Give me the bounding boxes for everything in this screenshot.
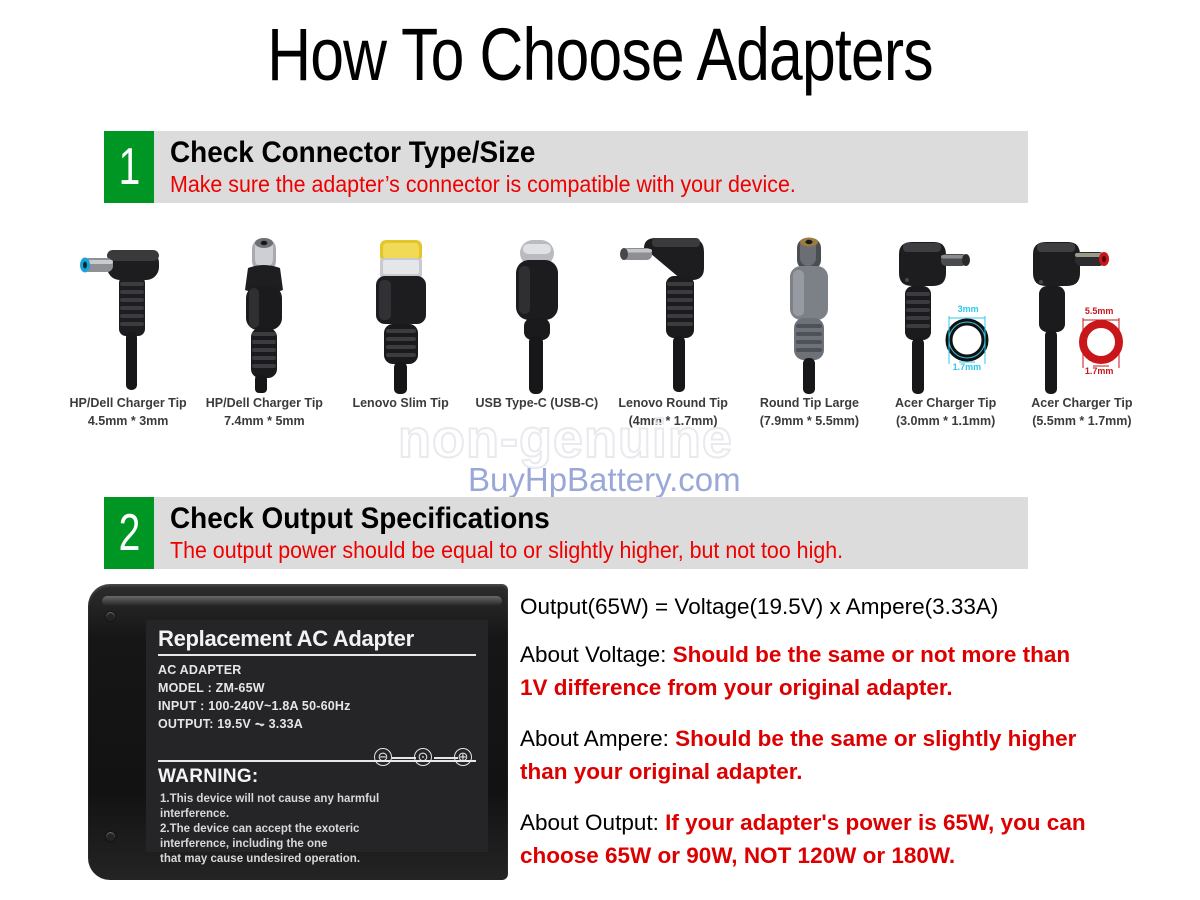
connector-size: (5.5mm * 1.7mm) xyxy=(1031,412,1132,430)
label-divider-top xyxy=(158,654,476,656)
connector-label-group: Round Tip Large (7.9mm * 5.5mm) xyxy=(760,394,859,430)
about-voltage-label: About Voltage: xyxy=(520,642,673,667)
step-2-number-badge: 2 xyxy=(104,497,154,569)
adapter-label-output: OUTPUT: 19.5V ⏦ 3.33A xyxy=(158,716,303,733)
step-1-title: Check Connector Type/Size xyxy=(170,136,968,169)
about-output-text: About Output: If your adapter's power is… xyxy=(520,806,1086,872)
adapter-label-input: INPUT : 100-240V~1.8A 50-60Hz xyxy=(158,698,351,715)
step-1-text-group: Check Connector Type/Size Make sure the … xyxy=(154,131,1028,203)
adapter-label-type: AC ADAPTER xyxy=(158,662,241,679)
connector-name: HP/Dell Charger Tip xyxy=(70,394,187,412)
hp-dell-right-angle-blue-tip-icon xyxy=(63,232,193,394)
connector-name: HP/Dell Charger Tip xyxy=(206,394,323,412)
connector-name: Lenovo Slim Tip xyxy=(352,394,448,412)
connector-item-usb-c[interactable]: USB Type-C (USB-C) xyxy=(469,232,605,442)
connector-name: Acer Charger Tip xyxy=(1031,394,1132,412)
connector-gallery: HP/Dell Charger Tip 4.5mm * 3mm xyxy=(60,232,1150,442)
polarity-diagram-icon: ⊖ ⊙ ⊕ xyxy=(374,748,474,768)
how-to-choose-adapters-infographic: How To Choose Adapters 1 Check Connector… xyxy=(0,0,1200,900)
ac-adapter-photo: Replacement AC Adapter AC ADAPTER MODEL … xyxy=(88,578,508,890)
step-1-number: 1 xyxy=(118,141,140,193)
step-1-number-badge: 1 xyxy=(104,131,154,203)
connector-size: 4.5mm * 3mm xyxy=(70,412,187,430)
adapter-top-highlight xyxy=(102,596,502,606)
adapter-label-model: MODEL : ZM-65W xyxy=(158,680,265,697)
warning-line-2: interference. xyxy=(160,807,229,822)
connector-item-lenovo-slim[interactable]: Lenovo Slim Tip xyxy=(333,232,469,442)
step-1-subtitle: Make sure the adapter’s connector is com… xyxy=(170,171,968,198)
warning-line-5: that may cause undesired operation. xyxy=(160,852,360,867)
polarity-line-left xyxy=(392,757,416,759)
lenovo-slim-rectangular-tip-icon xyxy=(336,232,466,394)
round-tip-large-icon xyxy=(744,232,874,394)
connector-size: 7.4mm * 5mm xyxy=(206,412,323,430)
lenovo-round-tip-icon xyxy=(608,232,738,394)
connector-name: USB Type-C (USB-C) xyxy=(476,394,599,412)
watermark-site-url: BuyHpBattery.com xyxy=(468,462,741,498)
acer-5.5mm-inner-dimension: 1.7mm xyxy=(1085,366,1114,376)
connector-label-group: USB Type-C (USB-C) xyxy=(476,394,599,412)
about-output-label: About Output: xyxy=(520,810,665,835)
about-ampere-text: About Ampere: Should be the same or slig… xyxy=(520,722,1086,788)
connector-label-group: HP/Dell Charger Tip 7.4mm * 5mm xyxy=(206,394,323,430)
step-2-number: 2 xyxy=(118,507,140,559)
connector-size: (4mm * 1.7mm) xyxy=(618,412,727,430)
connector-item-hp-dell-4.5mm[interactable]: HP/Dell Charger Tip 4.5mm * 3mm xyxy=(60,232,196,442)
acer-charger-tip-3mm-icon: 3mm 1.7mm xyxy=(881,232,1011,394)
connector-label-group: Acer Charger Tip (5.5mm * 1.7mm) xyxy=(1031,394,1132,430)
connector-name: Lenovo Round Tip xyxy=(618,394,727,412)
adapter-warning-title: WARNING: xyxy=(158,766,259,788)
connector-size: (7.9mm * 5.5mm) xyxy=(760,412,859,430)
polarity-plus-icon: ⊕ xyxy=(454,748,472,766)
adapter-screw-top-left xyxy=(106,612,115,621)
connector-label-group: Lenovo Slim Tip xyxy=(352,394,448,412)
adapter-label-brand-title: Replacement AC Adapter xyxy=(158,626,414,652)
page-title: How To Choose Adapters xyxy=(108,14,1092,96)
connector-item-acer-3.0mm[interactable]: 3mm 1.7mm Acer Charger Tip (3.0mm * 1.1m… xyxy=(878,232,1014,442)
step-2-subtitle: The output power should be equal to or s… xyxy=(170,537,968,564)
warning-line-4: interference, including the one xyxy=(160,837,327,852)
connector-name: Acer Charger Tip xyxy=(895,394,996,412)
polarity-minus-icon: ⊖ xyxy=(374,748,392,766)
connector-size: (3.0mm * 1.1mm) xyxy=(895,412,996,430)
connector-item-hp-dell-7.4mm[interactable]: HP/Dell Charger Tip 7.4mm * 5mm xyxy=(196,232,332,442)
warning-line-1: 1.This device will not cause any harmful xyxy=(160,792,379,807)
acer-3mm-inner-dimension: 1.7mm xyxy=(953,362,982,372)
step-1-header: 1 Check Connector Type/Size Make sure th… xyxy=(104,131,1028,203)
adapter-spec-label: Replacement AC Adapter AC ADAPTER MODEL … xyxy=(146,620,488,852)
step-2-title: Check Output Specifications xyxy=(170,502,968,535)
hp-dell-straight-pin-tip-icon xyxy=(199,232,329,394)
about-ampere-label: About Ampere: xyxy=(520,726,675,751)
warning-line-3: 2.The device can accept the exoteric xyxy=(160,822,359,837)
connector-item-round-tip-large[interactable]: Round Tip Large (7.9mm * 5.5mm) xyxy=(741,232,877,442)
connector-name: Round Tip Large xyxy=(760,394,859,412)
step-2-header: 2 Check Output Specifications The output… xyxy=(104,497,1028,569)
output-equation: Output(65W) = Voltage(19.5V) x Ampere(3.… xyxy=(520,590,1086,623)
label-divider-bottom xyxy=(158,760,476,762)
connector-item-acer-5.5mm[interactable]: 5.5mm 1.7mm Acer Charger Tip (5.5mm * 1.… xyxy=(1014,232,1150,442)
adapter-body: Replacement AC Adapter AC ADAPTER MODEL … xyxy=(88,584,508,880)
acer-3mm-outer-dimension: 3mm xyxy=(958,304,979,314)
connector-item-lenovo-round[interactable]: Lenovo Round Tip (4mm * 1.7mm) xyxy=(605,232,741,442)
about-voltage-text: About Voltage: Should be the same or not… xyxy=(520,638,1086,704)
acer-5.5mm-outer-dimension: 5.5mm xyxy=(1085,306,1114,316)
polarity-center-icon: ⊙ xyxy=(414,748,432,766)
usb-type-c-connector-icon xyxy=(472,232,602,394)
adapter-screw-bottom-left xyxy=(106,832,115,841)
step-2-text-group: Check Output Specifications The output p… xyxy=(154,497,1028,569)
connector-label-group: HP/Dell Charger Tip 4.5mm * 3mm xyxy=(70,394,187,430)
acer-charger-tip-5.5mm-icon: 5.5mm 1.7mm xyxy=(1017,232,1147,394)
connector-label-group: Lenovo Round Tip (4mm * 1.7mm) xyxy=(618,394,727,430)
connector-label-group: Acer Charger Tip (3.0mm * 1.1mm) xyxy=(895,394,996,430)
